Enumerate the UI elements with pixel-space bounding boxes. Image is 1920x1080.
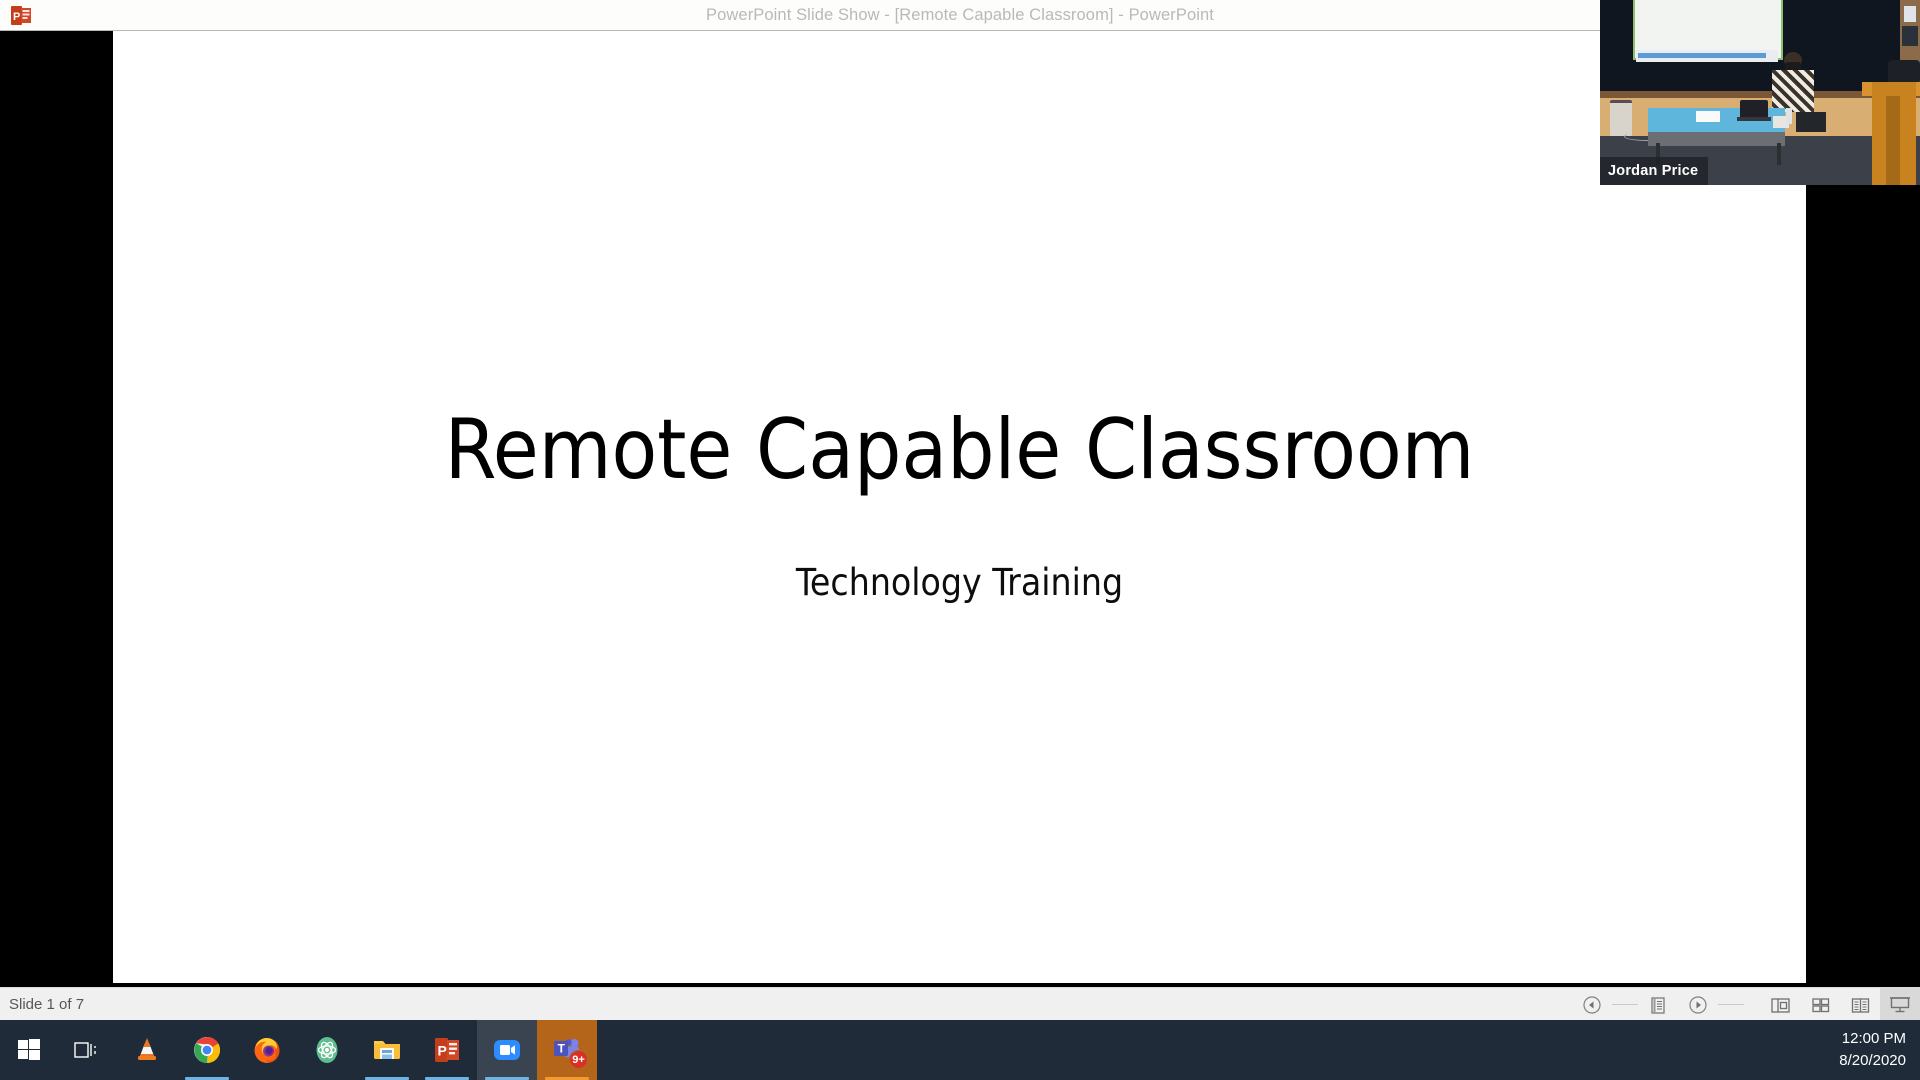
svg-text:P: P xyxy=(438,1043,447,1059)
paper-on-table xyxy=(1696,111,1720,122)
trash-can xyxy=(1610,100,1632,136)
zoom-icon xyxy=(492,1035,522,1065)
taskbar-item-firefox[interactable] xyxy=(237,1020,297,1080)
previous-slide-button[interactable] xyxy=(1572,988,1612,1021)
teams-notification-badge: 9+ xyxy=(569,1050,588,1069)
projected-slide-bar xyxy=(1638,53,1766,58)
screen: P PowerPoint Slide Show - [Remote Capabl… xyxy=(0,0,1920,1080)
table-leg-right xyxy=(1777,143,1781,165)
slide-sorter-icon xyxy=(1810,995,1831,1015)
status-bar-controls xyxy=(1572,988,1920,1021)
reading-view-icon xyxy=(1850,995,1871,1015)
taskbar-app-list: P xyxy=(0,1020,597,1080)
atom-icon xyxy=(312,1035,342,1065)
participant-name: Jordan Price xyxy=(1608,163,1698,179)
laptop-base xyxy=(1737,117,1771,121)
powerpoint-icon: P xyxy=(433,1035,461,1065)
chair xyxy=(1888,60,1920,84)
circle-right-arrow-icon xyxy=(1688,995,1708,1015)
start-button[interactable] xyxy=(0,1020,57,1080)
instructor-body xyxy=(1772,70,1814,112)
slide-title: Remote Capable Classroom xyxy=(113,406,1806,493)
circle-left-arrow-icon xyxy=(1582,995,1602,1015)
svg-text:T: T xyxy=(558,1042,566,1056)
status-spacer xyxy=(1744,988,1760,1021)
clock-date: 8/20/2020 xyxy=(1839,1050,1906,1072)
taskbar-item-explorer[interactable] xyxy=(357,1020,417,1080)
task-view-button[interactable] xyxy=(57,1020,117,1080)
taskbar-item-vlc[interactable] xyxy=(117,1020,177,1080)
task-view-icon xyxy=(74,1039,100,1061)
slide-sorter-button[interactable] xyxy=(1800,988,1840,1021)
firefox-icon xyxy=(252,1035,282,1065)
windows-logo-icon xyxy=(18,1039,40,1061)
normal-view-button[interactable] xyxy=(1760,988,1800,1021)
notes-button[interactable] xyxy=(1638,988,1678,1021)
windows-taskbar: P xyxy=(0,1020,1920,1080)
wall-poster xyxy=(1904,6,1916,22)
participant-name-badge: Jordan Price xyxy=(1600,157,1708,185)
slide-show-icon xyxy=(1889,995,1911,1015)
notes-page-icon xyxy=(1648,995,1668,1015)
taskbar-item-chrome[interactable] xyxy=(177,1020,237,1080)
taskbar-item-powerpoint[interactable]: P xyxy=(417,1020,477,1080)
clock-time: 12:00 PM xyxy=(1842,1028,1906,1050)
powerpoint-status-bar: Slide 1 of 7 xyxy=(0,987,1920,1020)
next-slide-button[interactable] xyxy=(1678,988,1718,1021)
slide-show-button[interactable] xyxy=(1880,988,1920,1021)
taskbar-item-atom[interactable] xyxy=(297,1020,357,1080)
podium-shadow xyxy=(1886,96,1900,185)
vlc-icon xyxy=(132,1035,162,1065)
reading-view-button[interactable] xyxy=(1840,988,1880,1021)
taskbar-item-zoom[interactable] xyxy=(477,1020,537,1080)
status-divider-2 xyxy=(1718,1004,1744,1005)
second-laptop xyxy=(1796,112,1826,132)
slide-subtitle: Technology Training xyxy=(113,561,1806,604)
status-divider xyxy=(1612,1004,1638,1005)
bottle-on-table xyxy=(1786,108,1792,124)
normal-view-icon xyxy=(1770,995,1791,1015)
slide-canvas[interactable]: Remote Capable Classroom Technology Trai… xyxy=(113,31,1806,983)
taskbar-item-teams[interactable]: T 9+ xyxy=(537,1020,597,1080)
taskbar-clock[interactable]: 12:00 PM 8/20/2020 xyxy=(1839,1020,1906,1080)
webcam-overlay[interactable]: Jordan Price xyxy=(1600,0,1920,185)
slide-counter: Slide 1 of 7 xyxy=(9,988,84,1021)
chrome-icon xyxy=(192,1035,222,1065)
wall-equipment xyxy=(1902,26,1918,46)
file-explorer-icon xyxy=(372,1037,402,1063)
